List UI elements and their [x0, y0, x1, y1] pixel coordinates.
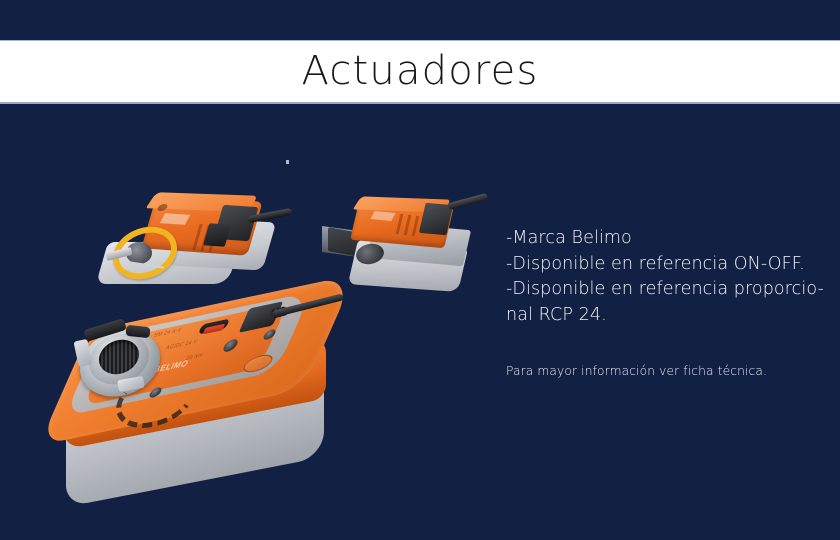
bullet-item: -Marca Belimo	[506, 226, 816, 252]
actuator-label	[370, 211, 395, 221]
title-banner: Actuadores	[0, 40, 840, 104]
bullet-list: -Marca Belimo -Disponible en referencia …	[506, 226, 816, 328]
actuator-large-image: SM 24 A-V AC/DC 24 V 20 Nm BELIMO	[58, 300, 350, 492]
bullet-item: -Disponible en referencia proporcio-	[506, 277, 816, 303]
actuator-shaft	[448, 193, 488, 210]
page-title: Actuadores	[0, 41, 840, 103]
bullet-item: nal RCP 24.	[506, 303, 816, 329]
actuator-clamp-jaw	[125, 325, 150, 338]
slide-canvas: Actuadores	[0, 0, 840, 540]
actuator-small-left-image	[100, 190, 290, 290]
bullet-item: -Disponible en referencia ON-OFF.	[506, 252, 816, 278]
footnote-text: Para mayor información ver ficha técnica…	[506, 363, 826, 379]
image-speck-artifact	[286, 160, 289, 164]
actuator-label	[160, 213, 190, 225]
actuator-small-middle-image	[322, 188, 492, 288]
